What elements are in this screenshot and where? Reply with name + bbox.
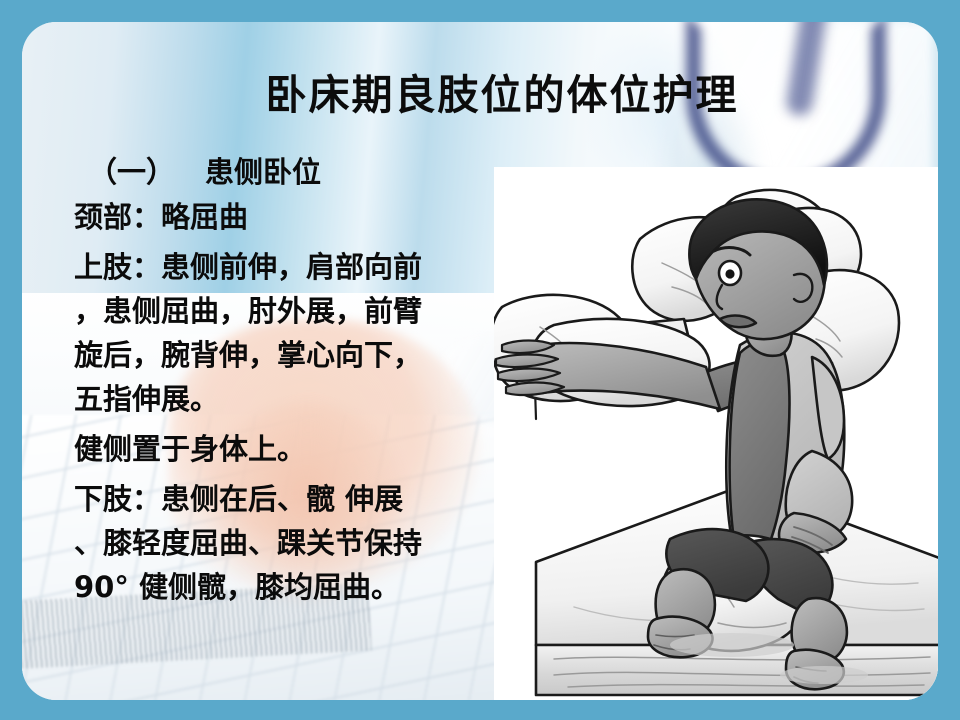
neck-line: 颈部：略屈曲	[74, 195, 504, 239]
body-text-block: （一）患侧卧位 颈部：略屈曲 上肢：患侧前伸，肩部向前 ，患侧屈曲，肘外展，前臂…	[74, 158, 504, 615]
section-label: 患侧卧位	[205, 155, 321, 189]
healthy-side-line: 健侧置于身体上。	[74, 427, 504, 471]
pupil	[725, 269, 734, 278]
section-heading: （一）患侧卧位	[74, 158, 504, 187]
slide-content-panel: 卧床期良肢位的体位护理 （一）患侧卧位 颈部：略屈曲 上肢：患侧前伸，肩部向前 …	[22, 22, 938, 700]
section-number: （一）	[88, 155, 175, 189]
lower-limb-paragraph: 下肢：患侧在后、髋 伸展 、膝轻度屈曲、踝关节保持 90° 健侧髋，膝均屈曲。	[74, 477, 504, 609]
page-title: 卧床期良肢位的体位护理	[22, 74, 938, 117]
patient-side-lying-figure	[494, 167, 938, 700]
upper-limb-paragraph: 上肢：患侧前伸，肩部向前 ，患侧屈曲，肘外展，前臂 旋后，腕背伸，掌心向下， 五…	[74, 245, 504, 421]
patient-position-illustration	[494, 167, 938, 700]
slide-root: 卧床期良肢位的体位护理 （一）患侧卧位 颈部：略屈曲 上肢：患侧前伸，肩部向前 …	[0, 0, 960, 720]
